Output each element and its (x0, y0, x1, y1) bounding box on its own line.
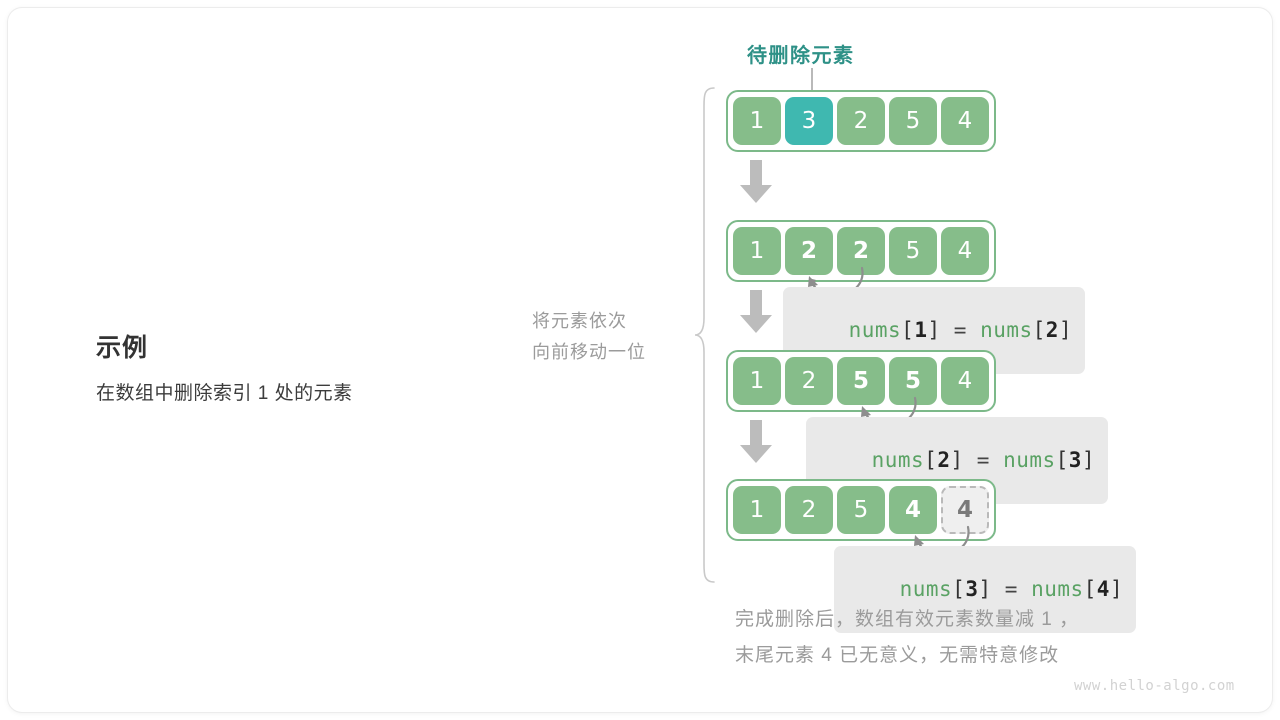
code-lhs-index: 3 (965, 577, 978, 601)
array-cell[interactable]: 4 (941, 97, 989, 145)
down-arrow-icon (739, 420, 773, 464)
array-cell[interactable]: 1 (733, 486, 781, 534)
summary-note: 完成删除后，数组有效元素数量减 1 ， 末尾元素 4 已无意义，无需特意修改 (735, 602, 1079, 674)
code-bracket-close: ] (927, 318, 940, 342)
code-lhs-index: 2 (937, 448, 950, 472)
code-bracket-close: ] (1082, 448, 1095, 472)
left-caption: 示例 在数组中删除索引 1 处的元素 (96, 328, 516, 405)
array-cell[interactable]: 1 (733, 357, 781, 405)
array-cell[interactable]: 5 (889, 97, 937, 145)
shift-note-line-1: 将元素依次 (532, 306, 692, 337)
example-description: 在数组中删除索引 1 处的元素 (96, 378, 516, 405)
code-bracket-open: [ (901, 318, 914, 342)
code-lhs-name: nums (872, 448, 925, 472)
grouping-brace (692, 86, 720, 584)
array-cell[interactable]: 2 (785, 357, 833, 405)
code-bracket-open: [ (1084, 577, 1097, 601)
array-row-initial: 1 3 2 5 4 (726, 90, 996, 152)
array-cell[interactable]: 1 (733, 227, 781, 275)
code-lhs-index: 1 (914, 318, 927, 342)
code-rhs-name: nums (980, 318, 1033, 342)
code-bracket-close: ] (978, 577, 991, 601)
code-operator: = (992, 577, 1031, 601)
shift-note: 将元素依次 向前移动一位 (532, 306, 692, 368)
code-rhs-index: 3 (1069, 448, 1082, 472)
code-rhs-index: 4 (1097, 577, 1110, 601)
code-bracket-open: [ (952, 577, 965, 601)
example-title: 示例 (96, 328, 516, 364)
code-bracket-close: ] (1110, 577, 1123, 601)
summary-note-line-2: 末尾元素 4 已无意义，无需特意修改 (735, 638, 1079, 674)
down-arrow-icon (739, 290, 773, 334)
code-bracket-close: ] (1059, 318, 1072, 342)
code-rhs-name: nums (1003, 448, 1056, 472)
code-bracket-close: ] (950, 448, 963, 472)
array-cell[interactable]: 2 (785, 486, 833, 534)
array-cell[interactable]: 5 (889, 227, 937, 275)
array-cell[interactable]: 4 (941, 357, 989, 405)
array-cell-highlighted[interactable]: 3 (785, 97, 833, 145)
code-bracket-open: [ (1056, 448, 1069, 472)
code-lhs-name: nums (849, 318, 902, 342)
down-arrow-icon (739, 160, 773, 204)
code-operator: = (964, 448, 1003, 472)
code-rhs-index: 2 (1046, 318, 1059, 342)
page-title: 待删除元素 (747, 39, 855, 68)
watermark: www.hello-algo.com (1074, 678, 1235, 694)
summary-note-line-1: 完成删除后，数组有效元素数量减 1 ， (735, 602, 1079, 638)
shift-note-line-2: 向前移动一位 (532, 337, 692, 368)
code-bracket-open: [ (1033, 318, 1046, 342)
array-cell[interactable]: 4 (941, 227, 989, 275)
diagram-canvas: 待删除元素 示例 在数组中删除索引 1 处的元素 将元素依次 向前移动一位 1 … (8, 8, 1272, 712)
array-cell[interactable]: 2 (837, 97, 885, 145)
code-bracket-open: [ (924, 448, 937, 472)
array-container: 1 3 2 5 4 (726, 90, 996, 152)
array-cell[interactable]: 5 (837, 486, 885, 534)
code-operator: = (941, 318, 980, 342)
code-lhs-name: nums (900, 577, 953, 601)
array-cell[interactable]: 1 (733, 97, 781, 145)
code-rhs-name: nums (1031, 577, 1084, 601)
